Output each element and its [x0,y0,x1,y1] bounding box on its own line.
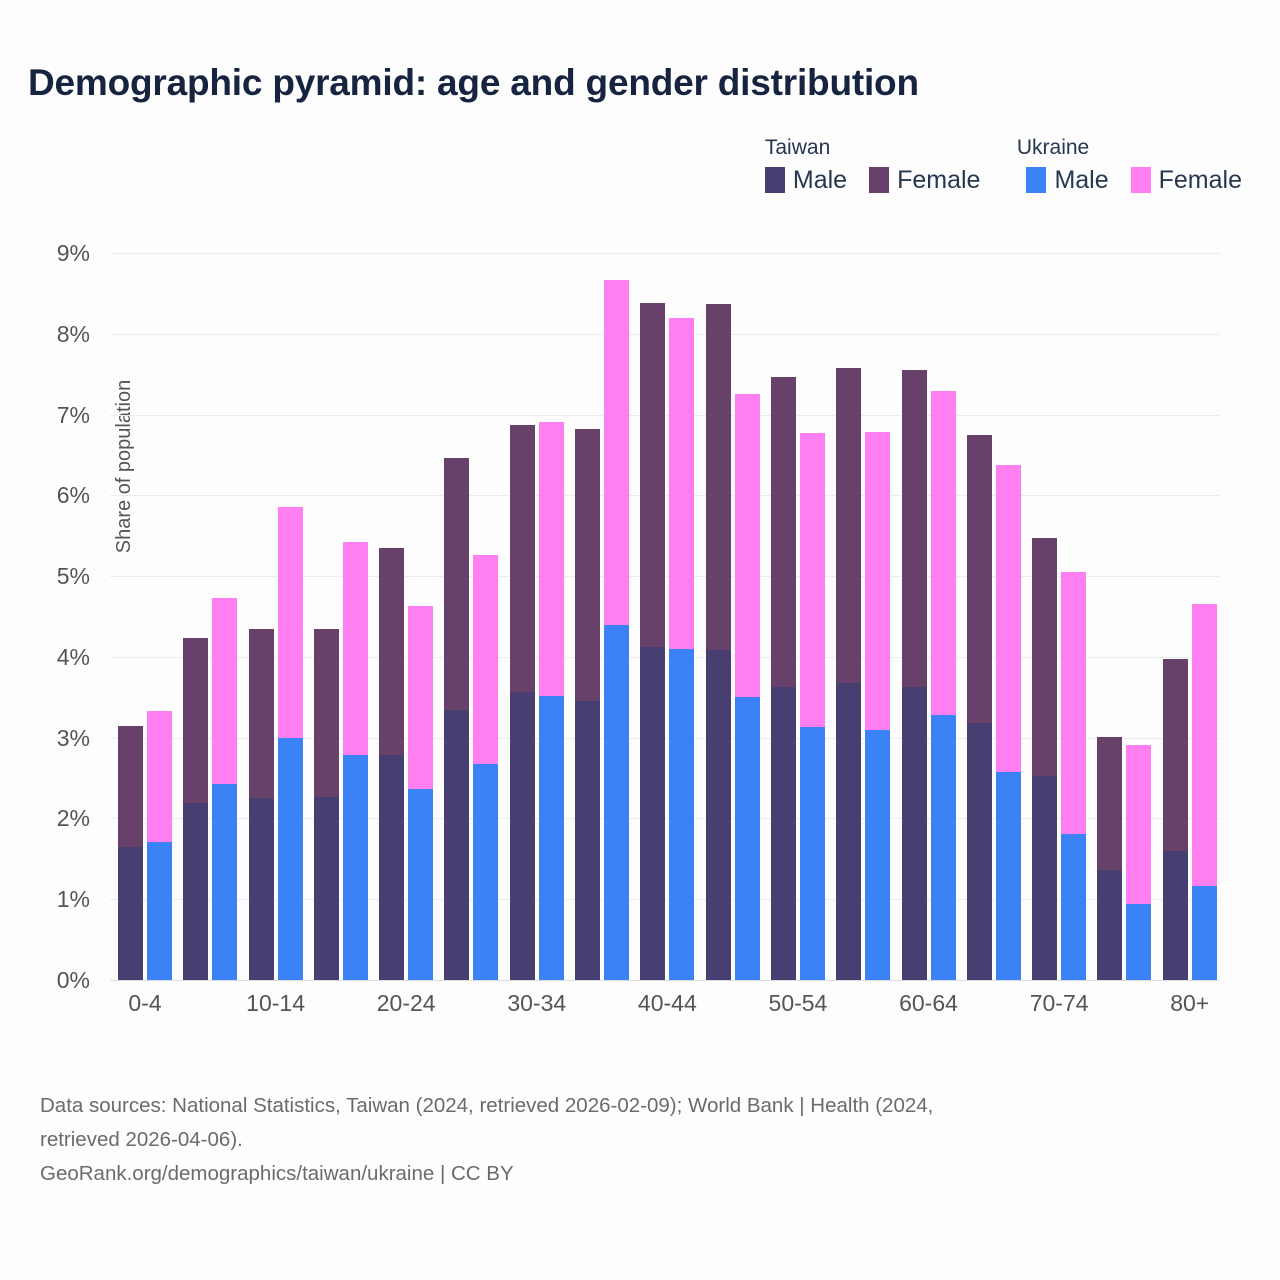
bar-taiwan[interactable] [967,435,992,980]
bar-ukraine[interactable] [996,465,1021,980]
legend-label-taiwan-female: Female [897,168,980,193]
bar-segment-taiwan-female[interactable] [706,304,731,650]
bar-segment-ukraine-male[interactable] [343,755,368,980]
bar-segment-ukraine-male[interactable] [865,730,890,980]
bar-segment-ukraine-female[interactable] [408,606,433,789]
bar-group[interactable] [444,253,498,980]
bar-segment-ukraine-male[interactable] [669,649,694,980]
bar-ukraine[interactable] [343,542,368,980]
bar-segment-taiwan-male[interactable] [183,803,208,980]
bar-ukraine[interactable] [147,711,172,980]
y-axis-tick-label: 1% [0,886,90,913]
bar-taiwan[interactable] [1097,737,1122,980]
bar-segment-ukraine-male[interactable] [800,727,825,980]
bar-segment-taiwan-female[interactable] [444,458,469,710]
bar-segment-ukraine-female[interactable] [996,465,1021,773]
bar-segment-ukraine-female[interactable] [800,433,825,727]
bar-group[interactable] [1163,253,1217,980]
bar-group[interactable] [640,253,694,980]
bar-segment-taiwan-male[interactable] [836,683,861,980]
bar-ukraine[interactable] [865,432,890,980]
footer-line-2: retrieved 2026-04-06). [40,1124,1220,1156]
bar-taiwan[interactable] [444,458,469,980]
bar-taiwan[interactable] [902,370,927,980]
bar-segment-taiwan-female[interactable] [640,303,665,647]
bar-segment-taiwan-male[interactable] [379,755,404,980]
bar-segment-ukraine-male[interactable] [1126,904,1151,980]
bar-segment-ukraine-male[interactable] [996,772,1021,980]
bar-group[interactable] [118,253,172,980]
y-axis-tick-label: 3% [0,725,90,752]
bar-group[interactable] [1032,253,1086,980]
x-axis-tick-label: 50-54 [769,990,828,1017]
bar-group[interactable] [902,253,956,980]
bar-segment-taiwan-female[interactable] [1032,538,1057,775]
bar-segment-ukraine-female[interactable] [473,555,498,764]
bar-segment-taiwan-male[interactable] [249,798,274,980]
bar-segment-taiwan-female[interactable] [1097,737,1122,870]
bar-segment-ukraine-female[interactable] [604,280,629,626]
bar-segment-ukraine-female[interactable] [1192,604,1217,885]
bar-segment-taiwan-female[interactable] [249,629,274,799]
x-axis-tick-label: 80+ [1170,990,1209,1017]
legend-swatch-icon-ukraine-female [1131,167,1151,193]
legend-items: Male Female Male Female [765,167,1242,193]
bar-group[interactable] [314,253,368,980]
bar-segment-ukraine-male[interactable] [212,784,237,980]
bar-segment-ukraine-male[interactable] [408,789,433,980]
bar-segment-ukraine-female[interactable] [931,391,956,715]
bar-ukraine[interactable] [408,606,433,980]
bar-group[interactable] [1097,253,1151,980]
bar-group[interactable] [575,253,629,980]
bar-segment-taiwan-male[interactable] [510,692,535,980]
bar-segment-taiwan-male[interactable] [771,687,796,980]
y-axis-tick-label: 5% [0,563,90,590]
bar-segment-ukraine-female[interactable] [539,422,564,696]
bar-group[interactable] [706,253,760,980]
bar-ukraine[interactable] [604,280,629,980]
bar-segment-taiwan-male[interactable] [1032,776,1057,980]
bar-segment-ukraine-male[interactable] [473,764,498,980]
bar-segment-taiwan-female[interactable] [314,629,339,797]
y-axis-tick-label: 2% [0,805,90,832]
bar-segment-taiwan-male[interactable] [706,650,731,980]
chart-page: Demographic pyramid: age and gender dist… [0,0,1280,1280]
x-axis-tick-label: 20-24 [377,990,436,1017]
bar-group[interactable] [967,253,1021,980]
plot-area: 0%1%2%3%4%5%6%7%8%9% [110,253,1220,980]
legend-item-ukraine-male[interactable]: Male [1026,167,1108,193]
bar-segment-ukraine-female[interactable] [343,542,368,755]
bar-taiwan[interactable] [379,548,404,980]
bar-segment-taiwan-male[interactable] [118,847,143,980]
bar-segment-taiwan-female[interactable] [836,368,861,683]
bar-segment-taiwan-female[interactable] [1163,659,1188,850]
bar-segment-taiwan-female[interactable] [118,726,143,847]
bar-segment-taiwan-male[interactable] [902,687,927,980]
bar-segment-taiwan-male[interactable] [444,710,469,980]
bar-group[interactable] [836,253,890,980]
legend-group-title-ukraine: Ukraine [1017,136,1241,160]
legend-item-ukraine-female[interactable]: Female [1131,167,1242,193]
bar-taiwan[interactable] [836,368,861,980]
bar-segment-ukraine-female[interactable] [212,598,237,784]
legend-label-ukraine-male: Male [1054,168,1108,193]
bar-segment-ukraine-female[interactable] [865,432,890,730]
legend-item-taiwan-female[interactable]: Female [869,167,980,193]
bar-segment-taiwan-male[interactable] [967,723,992,980]
x-axis-tick-label: 10-14 [246,990,305,1017]
bar-taiwan[interactable] [1032,538,1057,980]
bar-ukraine[interactable] [669,318,694,980]
x-axis-ticks: 0-410-1420-2430-3440-4450-5460-6470-7480… [110,990,1220,1030]
y-axis-tick-label: 0% [0,967,90,994]
bar-segment-taiwan-female[interactable] [771,377,796,687]
bar-taiwan[interactable] [314,629,339,980]
bar-taiwan[interactable] [1163,659,1188,980]
page-title: Demographic pyramid: age and gender dist… [28,62,919,104]
bar-segment-ukraine-male[interactable] [147,842,172,980]
bar-group[interactable] [771,253,825,980]
y-axis-tick-label: 7% [0,402,90,429]
bar-segment-ukraine-female[interactable] [278,507,303,737]
legend-group-title-taiwan: Taiwan [765,136,1017,160]
legend-label-taiwan-male: Male [793,168,847,193]
bar-segment-ukraine-male[interactable] [1192,886,1217,981]
x-axis-tick-label: 0-4 [128,990,161,1017]
bars-layer [110,253,1220,980]
bar-taiwan[interactable] [771,377,796,980]
bar-group[interactable] [510,253,564,980]
bar-segment-ukraine-female[interactable] [1061,572,1086,834]
bar-segment-taiwan-female[interactable] [510,425,535,692]
chart-footer: Data sources: National Statistics, Taiwa… [40,1090,1220,1189]
legend-label-ukraine-female: Female [1159,168,1242,193]
bar-ukraine[interactable] [1126,745,1151,980]
bar-group[interactable] [379,253,433,980]
bar-segment-ukraine-female[interactable] [735,394,760,698]
bar-segment-ukraine-male[interactable] [278,738,303,980]
bar-ukraine[interactable] [473,555,498,980]
bar-taiwan[interactable] [706,304,731,980]
y-axis-tick-label: 9% [0,240,90,267]
y-axis-tick-label: 4% [0,644,90,671]
bar-taiwan[interactable] [118,726,143,980]
y-axis-tick-label: 6% [0,482,90,509]
bar-segment-ukraine-male[interactable] [539,696,564,980]
footer-line-3: GeoRank.org/demographics/taiwan/ukraine … [40,1158,1220,1190]
bar-ukraine[interactable] [278,507,303,980]
bar-taiwan[interactable] [183,638,208,980]
bar-segment-taiwan-female[interactable] [575,429,600,700]
bar-taiwan[interactable] [249,629,274,980]
bar-ukraine[interactable] [1061,572,1086,980]
bar-ukraine[interactable] [931,391,956,980]
bar-segment-ukraine-male[interactable] [735,697,760,980]
bar-ukraine[interactable] [1192,604,1217,980]
bar-group[interactable] [183,253,237,980]
bar-segment-taiwan-female[interactable] [967,435,992,723]
legend-swatch-icon-taiwan-female [869,167,889,193]
legend-item-taiwan-male[interactable]: Male [765,167,847,193]
bar-group[interactable] [249,253,303,980]
bar-ukraine[interactable] [212,598,237,980]
bar-segment-taiwan-female[interactable] [183,638,208,803]
bar-segment-ukraine-female[interactable] [147,711,172,842]
legend-swatch-icon-ukraine-male [1026,167,1046,193]
x-axis-tick-label: 40-44 [638,990,697,1017]
bar-taiwan[interactable] [575,429,600,980]
bar-ukraine[interactable] [539,422,564,980]
legend-swatch-icon-taiwan-male [765,167,785,193]
footer-line-1: Data sources: National Statistics, Taiwa… [40,1090,1220,1122]
x-axis-tick-label: 70-74 [1030,990,1089,1017]
bar-segment-ukraine-male[interactable] [604,625,629,980]
bar-ukraine[interactable] [800,433,825,980]
bar-taiwan[interactable] [640,303,665,980]
y-axis-tick-label: 8% [0,321,90,348]
bar-ukraine[interactable] [735,394,760,980]
bar-segment-taiwan-female[interactable] [379,548,404,755]
gridline [110,980,1220,981]
bar-segment-ukraine-female[interactable] [669,318,694,649]
bar-segment-ukraine-female[interactable] [1126,745,1151,904]
bar-segment-ukraine-male[interactable] [1061,834,1086,980]
x-axis-tick-label: 60-64 [899,990,958,1017]
bar-segment-taiwan-male[interactable] [640,647,665,980]
bar-segment-taiwan-male[interactable] [1097,870,1122,980]
bar-taiwan[interactable] [510,425,535,980]
x-axis-tick-label: 30-34 [507,990,566,1017]
bar-segment-taiwan-female[interactable] [902,370,927,687]
chart-legend: Taiwan Ukraine Male Female Male Female [765,136,1242,193]
bar-segment-taiwan-male[interactable] [575,701,600,980]
bar-segment-taiwan-male[interactable] [1163,851,1188,980]
legend-group-titles: Taiwan Ukraine [765,136,1241,160]
bar-segment-ukraine-male[interactable] [931,715,956,980]
bar-segment-taiwan-male[interactable] [314,797,339,980]
